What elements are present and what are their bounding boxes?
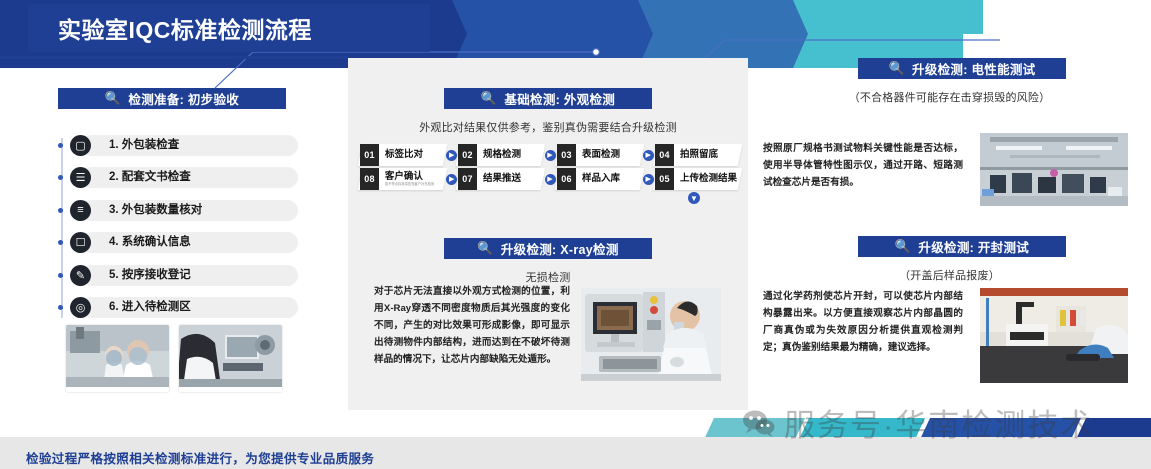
arrow-right-circle-icon: ▶ bbox=[446, 174, 457, 185]
microscope-inspection-photo bbox=[66, 325, 169, 392]
target-icon: ◎ bbox=[70, 297, 91, 318]
process-chip[interactable]: 05 上传检测结果 bbox=[652, 168, 742, 190]
step-bullet-dot bbox=[58, 143, 63, 148]
arrow-right-circle-icon: ▶ bbox=[545, 174, 556, 185]
chip-number: 06 bbox=[557, 168, 576, 190]
list-item[interactable]: ✎ 5. 按序接收登记 bbox=[48, 260, 298, 290]
arrow-down-circle-icon: ▼ bbox=[688, 192, 700, 204]
xray-body-text: 对于芯片无法直接以外观方式检测的位置，利用X-Ray穿透不同密度物质后其光强度的… bbox=[374, 283, 570, 368]
magnifier-icon: 🔍 bbox=[889, 62, 906, 75]
magnifier-icon: 🔍 bbox=[105, 92, 122, 105]
technician-workstation-photo bbox=[179, 325, 282, 392]
step-bullet-dot bbox=[58, 273, 63, 278]
list-item-label: 5. 按序接收登记 bbox=[81, 265, 298, 286]
basic-section-title-text: 基础检测: 外观检测 bbox=[504, 89, 615, 108]
chip-number: 01 bbox=[360, 144, 379, 166]
left-section-title-bar: 🔍 检测准备: 初步验收 bbox=[58, 88, 286, 109]
step-bullet-dot bbox=[58, 305, 63, 310]
list-item[interactable]: ≡ 3. 外包装数量核对 bbox=[48, 195, 298, 225]
step-bullet-dot bbox=[58, 208, 63, 213]
monitor-icon: ☐ bbox=[70, 232, 91, 253]
basic-section-subtitle: 外观比对结果仅供参考，鉴别真伪需要结合升级检测 bbox=[348, 119, 748, 135]
chip-number: 04 bbox=[655, 144, 674, 166]
title-underline bbox=[0, 56, 348, 59]
chip-label: 上传检测结果 bbox=[674, 174, 737, 184]
preparation-step-list: ▢ 1. 外包装检查 ☰ 2. 配套文书检查 ≡ 3. 外包装数量核对 ☐ 4.… bbox=[48, 130, 298, 325]
watermark-text: 服务号·华南检测技术 bbox=[784, 400, 1093, 445]
xray-machine-operator-photo bbox=[581, 288, 721, 386]
chip-label: 结果推送 bbox=[477, 174, 521, 184]
list-item-label: 6. 进入待检测区 bbox=[81, 297, 298, 318]
arrow-right-circle-icon: ▶ bbox=[643, 174, 654, 185]
decap-section-title-text: 升级检测: 开封测试 bbox=[918, 237, 1029, 256]
chip-label-main: 客户确认 bbox=[385, 172, 434, 182]
chip-number: 07 bbox=[458, 168, 477, 190]
chip-label: 表面检测 bbox=[576, 150, 620, 160]
chip-number: 08 bbox=[360, 168, 379, 190]
list-item[interactable]: ▢ 1. 外包装检查 bbox=[48, 130, 298, 160]
basic-section-title-bar: 🔍 基础检测: 外观检测 bbox=[444, 88, 652, 109]
process-chip[interactable]: 01 标签比对 bbox=[358, 144, 448, 166]
arrow-right-circle-icon: ▶ bbox=[545, 150, 556, 161]
package-icon: ▢ bbox=[70, 135, 91, 156]
chip-number: 03 bbox=[557, 144, 576, 166]
xray-section-title-bar: 🔍 升级检测: X-ray检测 bbox=[444, 238, 652, 259]
wechat-icon bbox=[742, 409, 776, 437]
electrical-section-title-text: 升级检测: 电性能测试 bbox=[912, 59, 1035, 78]
watermark: 服务号·华南检测技术 bbox=[742, 400, 1093, 445]
process-chip[interactable]: 07 结果推送 bbox=[456, 168, 546, 190]
process-chip[interactable]: 06 样品入库 bbox=[554, 168, 644, 190]
chip-number: 05 bbox=[655, 168, 674, 190]
electrical-subtitle: （不合格器件可能存在击穿损毁的风险） bbox=[748, 89, 1151, 105]
electrical-subtitle-wrap: （不合格器件可能存在击穿损毁的风险） bbox=[748, 78, 1151, 105]
chip-row-top: 01 标签比对 ▶ 02 规格检测 ▶ 03 表面检测 ▶ 04 拍照留底 bbox=[360, 143, 740, 167]
basic-section-header: 🔍 基础检测: 外观检测 bbox=[444, 88, 652, 109]
magnifier-icon: 🔍 bbox=[477, 242, 494, 255]
decap-section-title-bar: 🔍 升级检测: 开封测试 bbox=[858, 236, 1066, 257]
poster-title-bar: 实验室IQC标准检测流程 bbox=[28, 4, 430, 52]
decap-section-header: 🔍 升级检测: 开封测试 bbox=[858, 236, 1066, 257]
electrical-section-header: 🔍 升级检测: 电性能测试 bbox=[858, 58, 1066, 79]
list-item-label: 4. 系统确认信息 bbox=[81, 232, 298, 253]
process-chip-grid: 01 标签比对 ▶ 02 规格检测 ▶ 03 表面检测 ▶ 04 拍照留底 bbox=[360, 143, 740, 191]
step-bullet-dot bbox=[58, 240, 63, 245]
edit-icon: ✎ bbox=[70, 265, 91, 286]
decap-subtitle-wrap: （开盖后样品报废） bbox=[748, 256, 1151, 283]
chip-label: 规格检测 bbox=[477, 150, 521, 160]
decap-subtitle: （开盖后样品报废） bbox=[748, 267, 1151, 283]
basic-section-subtitle-wrap: 外观比对结果仅供参考，鉴别真伪需要结合升级检测 bbox=[348, 108, 748, 135]
left-section-title-text: 检测准备: 初步验收 bbox=[128, 89, 239, 108]
left-photo-group bbox=[66, 325, 282, 392]
chip-sublabel: 如不符合标准将告知客户补充检测 bbox=[385, 183, 434, 186]
xray-subtitle-wrap: 无损检测 bbox=[348, 258, 748, 285]
chip-label: 标签比对 bbox=[379, 150, 423, 160]
list-item[interactable]: ☐ 4. 系统确认信息 bbox=[48, 228, 298, 258]
list-item-label: 2. 配套文书检查 bbox=[81, 167, 298, 188]
chip-label: 样品入库 bbox=[576, 174, 620, 184]
process-chip[interactable]: 03 表面检测 bbox=[554, 144, 644, 166]
list-item-label: 3. 外包装数量核对 bbox=[81, 200, 298, 221]
page-title: 实验室IQC标准检测流程 bbox=[28, 11, 312, 45]
electrical-section-title-bar: 🔍 升级检测: 电性能测试 bbox=[858, 58, 1066, 79]
list-item[interactable]: ◎ 6. 进入待检测区 bbox=[48, 293, 298, 323]
process-chip[interactable]: 04 拍照留底 bbox=[652, 144, 742, 166]
chemical-decap-bench-photo bbox=[980, 288, 1128, 388]
chip-row-bottom: 08 客户确认 如不符合标准将告知客户补充检测 ▶ 07 结果推送 ▶ 06 样… bbox=[360, 167, 740, 191]
list-item-label: 1. 外包装检查 bbox=[81, 135, 298, 156]
list-item[interactable]: ☰ 2. 配套文书检查 bbox=[48, 163, 298, 193]
poster-root: 实验室IQC标准检测流程 🔍 检测准备: 初步验收 ▢ 1. 外包装检查 ☰ 2… bbox=[0, 0, 1151, 469]
checklist-icon: ≡ bbox=[70, 200, 91, 221]
process-chip[interactable]: 02 规格检测 bbox=[456, 144, 546, 166]
electrical-test-lab-photo bbox=[980, 133, 1128, 211]
step-bullet-dot bbox=[58, 175, 63, 180]
left-section-header: 🔍 检测准备: 初步验收 bbox=[58, 88, 286, 109]
chip-label: 拍照留底 bbox=[674, 150, 718, 160]
decap-body-text: 通过化学药剂使芯片开封，可以使芯片内部结构暴露出来。以方便直接观察芯片内部晶圆的… bbox=[763, 288, 963, 356]
process-chip[interactable]: 08 客户确认 如不符合标准将告知客户补充检测 bbox=[358, 168, 448, 190]
chip-number: 02 bbox=[458, 144, 477, 166]
chip-label: 客户确认 如不符合标准将告知客户补充检测 bbox=[379, 172, 434, 187]
xray-section-header: 🔍 升级检测: X-ray检测 bbox=[444, 238, 652, 259]
arrow-right-circle-icon: ▶ bbox=[446, 150, 457, 161]
document-icon: ☰ bbox=[70, 167, 91, 188]
electrical-body-text: 按照原厂规格书测试物料关键性能是否达标，使用半导体管特性图示仪，通过开路、短路测… bbox=[763, 140, 963, 191]
magnifier-icon: 🔍 bbox=[895, 240, 912, 253]
xray-section-title-text: 升级检测: X-ray检测 bbox=[501, 239, 619, 258]
arrow-right-circle-icon: ▶ bbox=[643, 150, 654, 161]
magnifier-icon: 🔍 bbox=[481, 92, 498, 105]
footer-text: 检验过程严格按照相关检测标准进行，为您提供专业品质服务 bbox=[26, 448, 374, 467]
